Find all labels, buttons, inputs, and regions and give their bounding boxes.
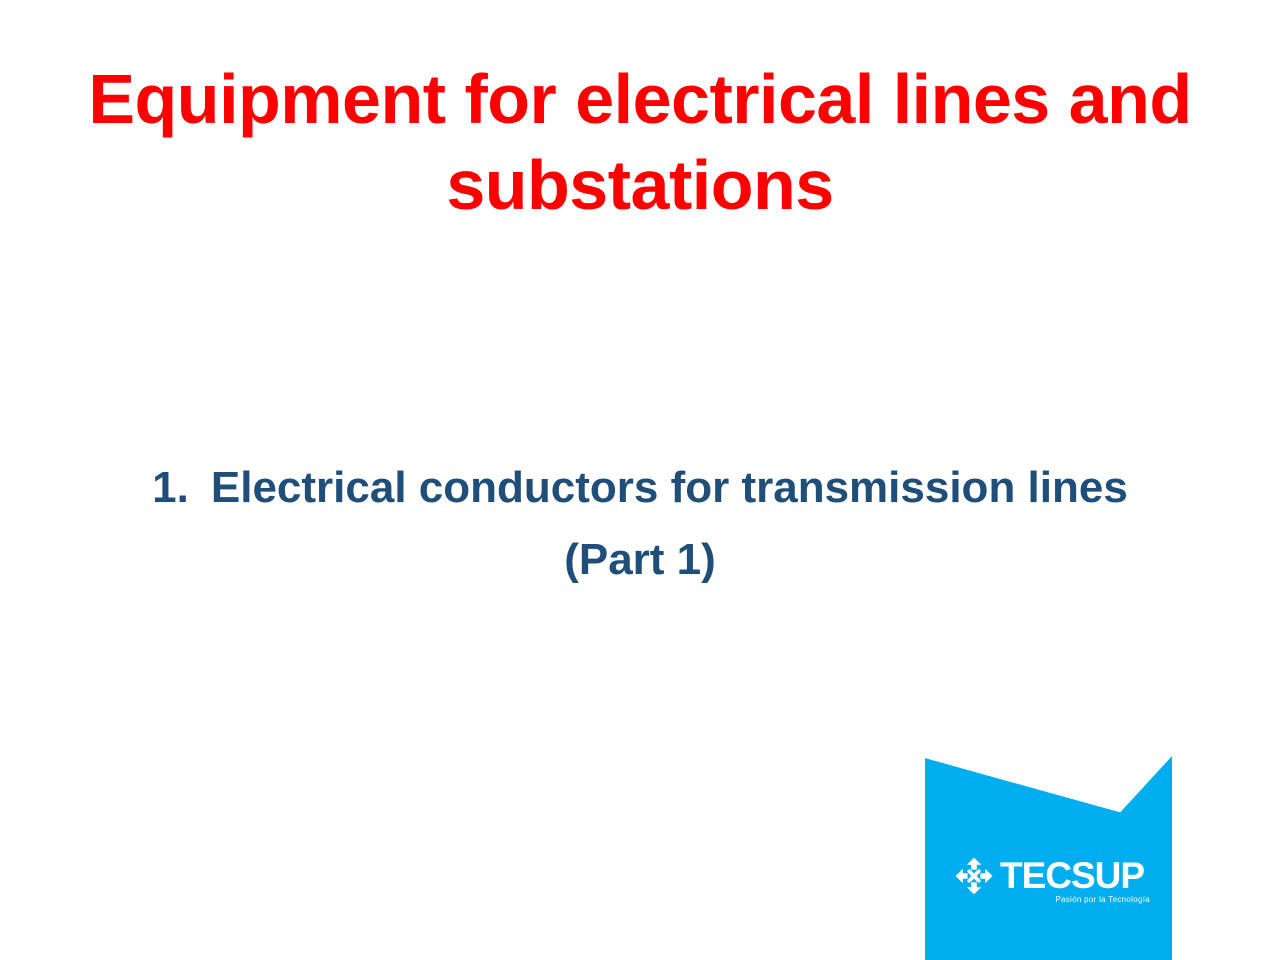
title-line-2: substations [60,142,1220,228]
subtitle-line-2: (Part 1) [60,524,1220,596]
slide-title: Equipment for electrical lines and subst… [60,56,1220,228]
pinwheel-diamond-icon [954,856,994,896]
logo-mark: TECSUP [954,853,1144,899]
presentation-slide: Equipment for electrical lines and subst… [0,0,1280,960]
logo-tagline: Pasión por la Tecnología [1000,895,1150,905]
logo-wordmark: TECSUP [1000,856,1144,896]
title-line-1: Equipment for electrical lines and [60,56,1220,142]
tecsup-logo: TECSUP Pasión por la Tecnología [925,755,1172,960]
subtitle-line-1-text: Electrical conductors for transmission l… [211,463,1128,512]
subtitle-line-1: 1.Electrical conductors for transmission… [60,452,1220,524]
slide-subtitle: 1.Electrical conductors for transmission… [60,452,1220,596]
subtitle-list-number: 1. [152,463,189,512]
